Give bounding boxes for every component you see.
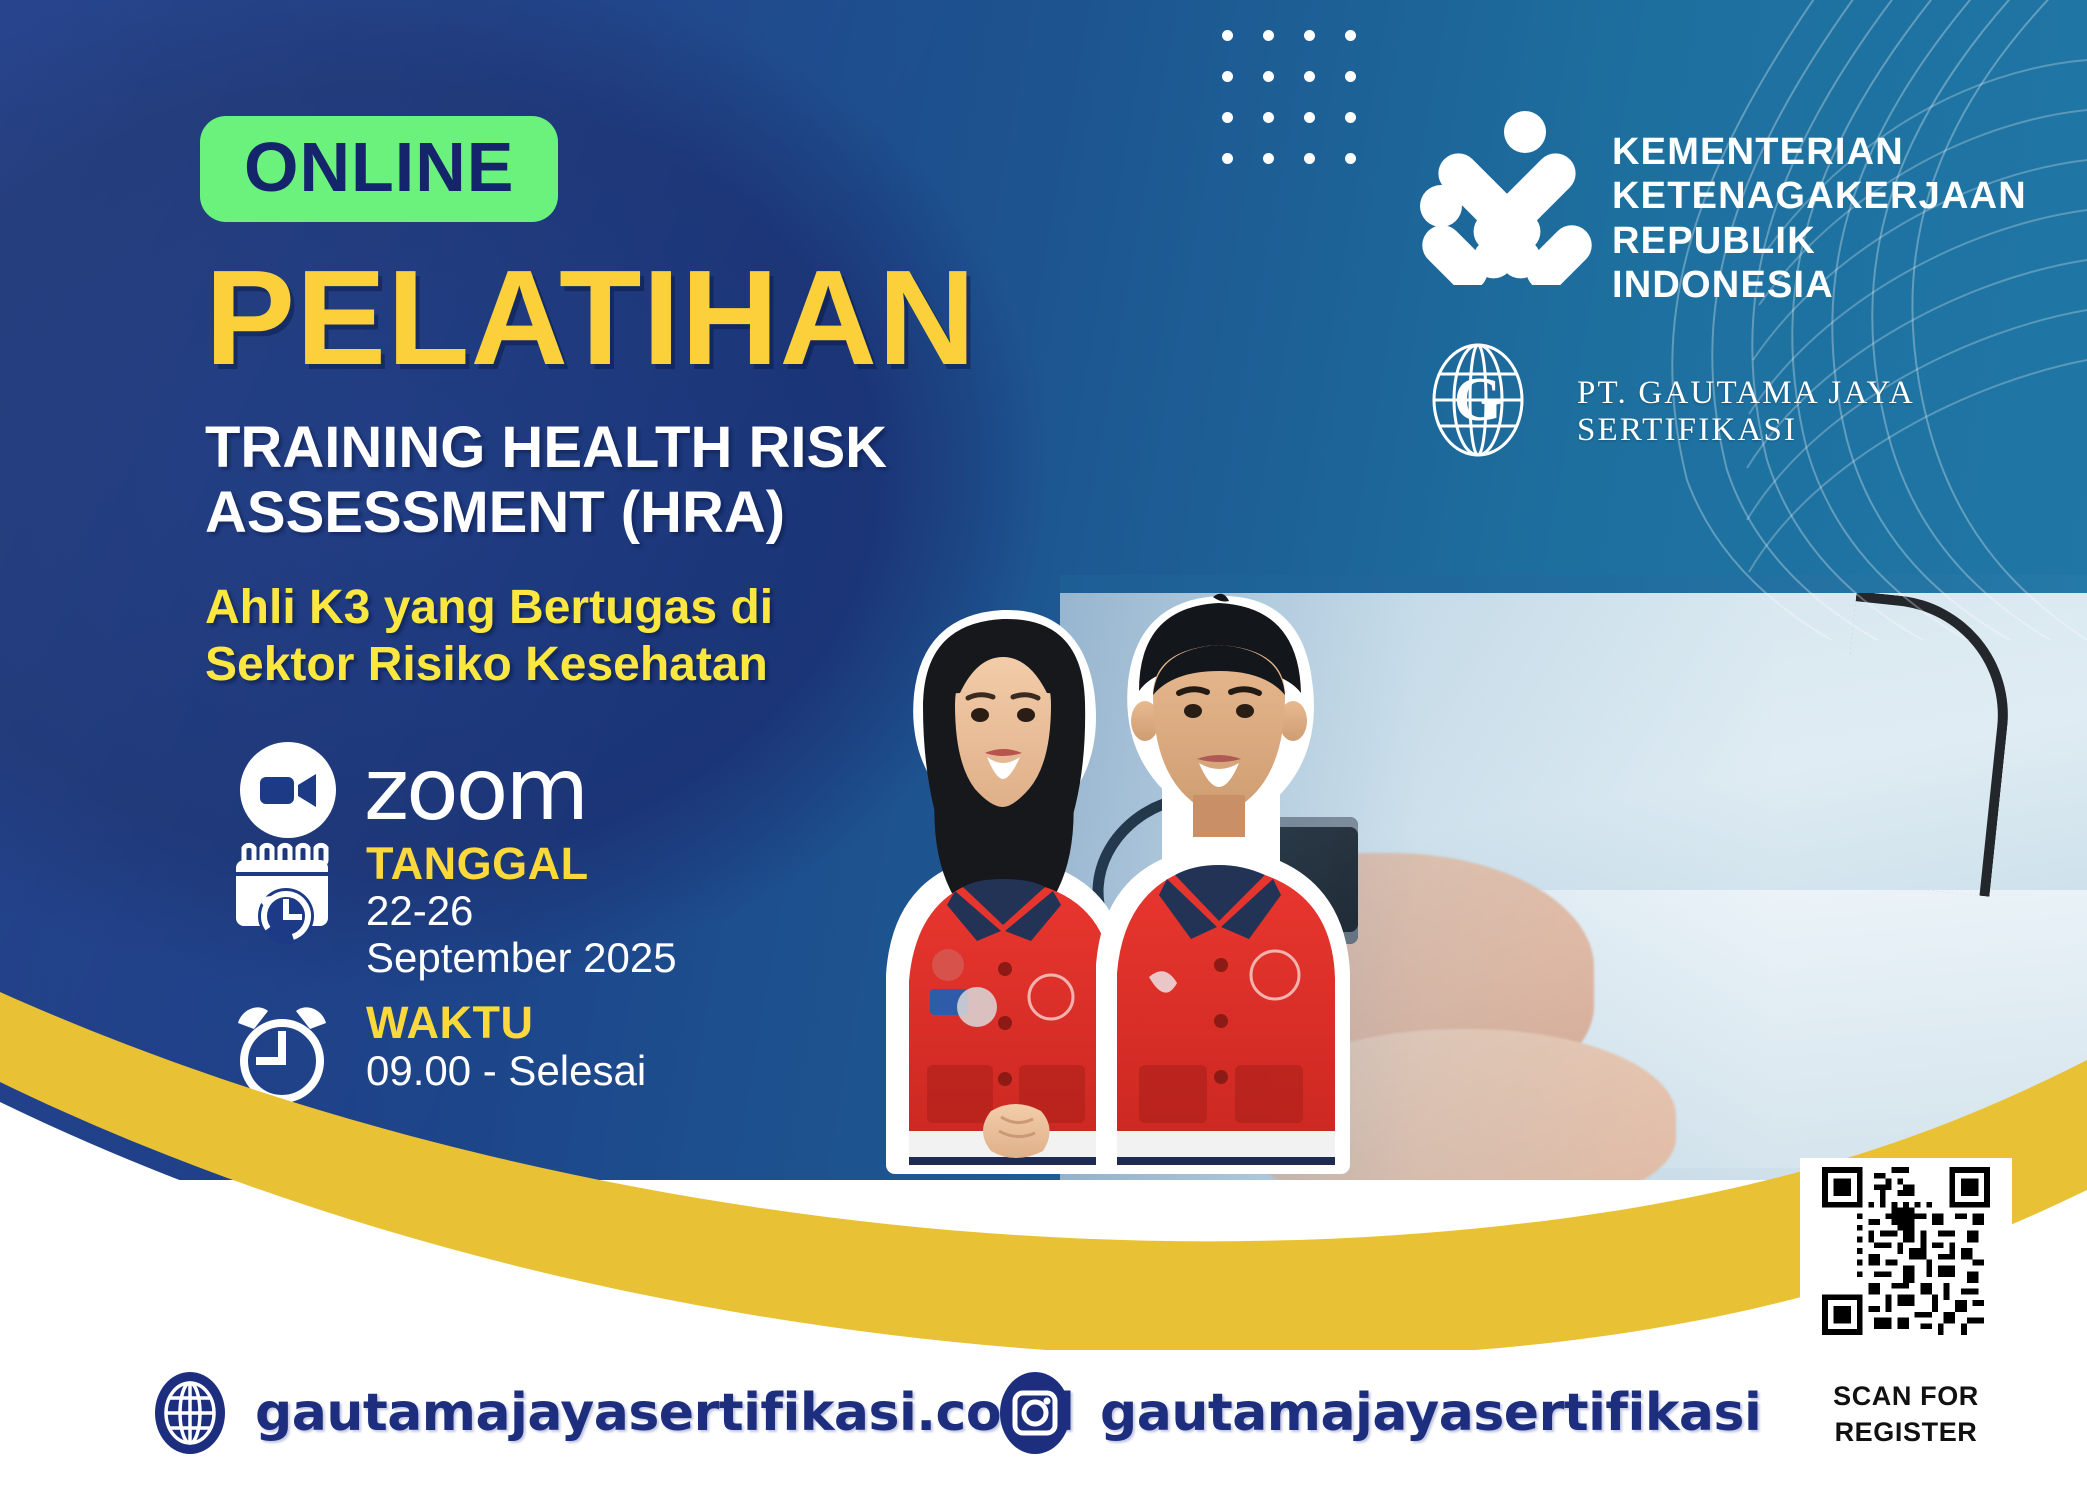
dot-grid-decoration <box>1222 30 1356 164</box>
qr-caption-line-1: SCAN FOR <box>1795 1378 2017 1414</box>
zoom-platform-logo: zoom <box>238 740 586 840</box>
svg-text:G: G <box>1454 366 1502 434</box>
white-bottom-area <box>0 950 2087 1390</box>
instagram-text[interactable]: gautamajayasertifikasi <box>1100 1383 1761 1443</box>
footer-instagram[interactable]: gautamajayasertifikasi <box>1000 1372 1761 1454</box>
ministry-line-3: REPUBLIK <box>1612 219 2027 263</box>
qr-code-card[interactable] <box>1800 1158 2012 1343</box>
subtitle-en-line-1: TRAINING HEALTH RISK <box>205 416 887 481</box>
qr-caption-line-2: REGISTER <box>1795 1414 2017 1450</box>
training-subtitle-en: TRAINING HEALTH RISK ASSESSMENT (HRA) <box>205 416 887 546</box>
instagram-icon <box>1000 1372 1070 1454</box>
poster-canvas: KEMENTERIAN KETENAGAKERJAAN REPUBLIK IND… <box>0 0 2087 1487</box>
subtitle-en-line-2: ASSESSMENT (HRA) <box>205 481 887 546</box>
company-name: PT. GAUTAMA JAYA SERTIFIKASI <box>1577 375 2087 449</box>
schedule-value-date-1: 22-26 <box>366 887 677 934</box>
footer-website[interactable]: gautamajayasertifikasi.co.id <box>155 1372 1074 1454</box>
qr-caption: SCAN FOR REGISTER <box>1795 1378 2017 1451</box>
ministry-line-1: KEMENTERIAN <box>1612 130 2027 174</box>
kemnaker-logo <box>1415 110 1600 285</box>
online-badge: ONLINE <box>200 116 558 222</box>
training-subtitle-id: Ahli K3 yang Bertugas di Sektor Risiko K… <box>205 580 773 693</box>
schedule-label-date: TANGGAL <box>366 840 677 887</box>
qr-code[interactable] <box>1822 1167 1990 1335</box>
subtitle-id-line-1: Ahli K3 yang Bertugas di <box>205 580 773 637</box>
zoom-wordmark: zoom <box>364 740 586 840</box>
page-title: PELATIHAN <box>205 250 976 385</box>
ministry-name: KEMENTERIAN KETENAGAKERJAAN REPUBLIK IND… <box>1612 130 2027 308</box>
zoom-camera-icon <box>238 740 338 840</box>
subtitle-id-line-2: Sektor Risiko Kesehatan <box>205 637 773 694</box>
ministry-line-2: KETENAGAKERJAAN <box>1612 174 2027 218</box>
globe-icon <box>155 1372 225 1454</box>
gautama-jaya-globe-logo: G <box>1418 340 1538 460</box>
ministry-line-4: INDONESIA <box>1612 263 2027 307</box>
website-text[interactable]: gautamajayasertifikasi.co.id <box>255 1383 1074 1443</box>
